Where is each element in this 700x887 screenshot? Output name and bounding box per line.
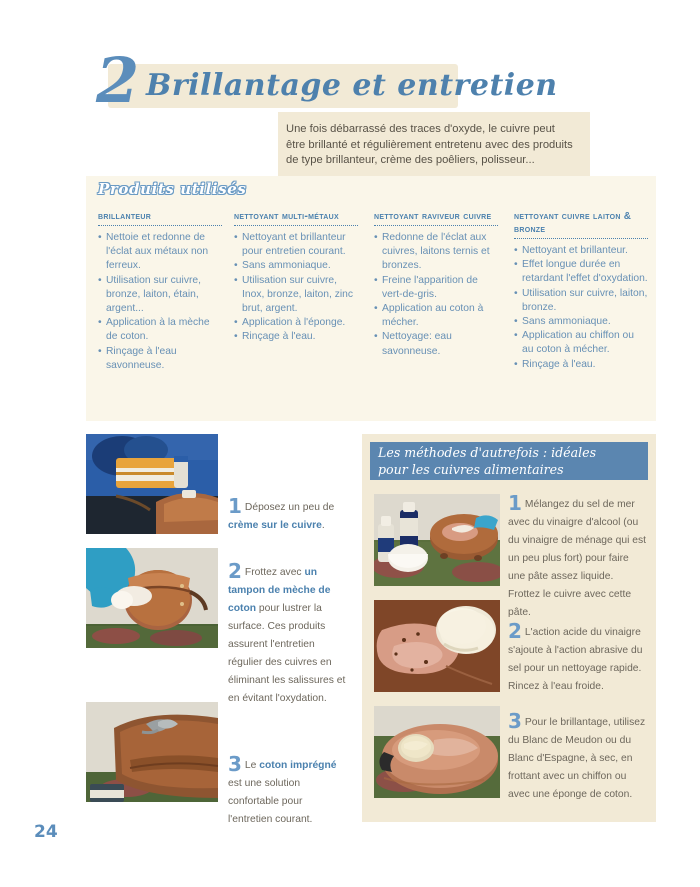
heading-line-2: pour les cuivres alimentaires	[378, 461, 648, 478]
intro-panel: Une fois débarrassé des traces d'oxyde, …	[278, 112, 590, 181]
step-number: 2	[508, 622, 522, 640]
products-heading: Produits utilisés	[98, 180, 246, 198]
page-number: 24	[34, 822, 58, 842]
product-feature-list: Redonne de l'éclat aux cuivres, laitons …	[374, 231, 498, 359]
list-item: Rinçage à l'eau.	[234, 330, 358, 344]
section-number: 2	[96, 50, 137, 112]
list-item: Application à l'éponge.	[234, 316, 358, 330]
step-number: 2	[228, 562, 242, 580]
list-item: Utilisation sur cuivre, bronze, laiton, …	[98, 274, 222, 317]
product-column-nettoyant-raviveur-cuivre: Nettoyant raviveur cuivre Redonne de l'é…	[374, 210, 498, 359]
step-photo-cotton-scrubbing-paste	[374, 600, 500, 692]
list-item: Utilisation sur cuivre, laiton, bronze.	[514, 287, 648, 315]
list-item: Application à la mèche de coton.	[98, 316, 222, 344]
products-panel: Produits utilisés Brillanteur Nettoie et…	[86, 176, 656, 421]
step-text: Pour le brillantage, utilisez du Blanc d…	[508, 717, 645, 800]
product-column-nettoyant-multi-metaux: Nettoyant multi-métaux Nettoyant et bril…	[234, 210, 358, 345]
list-item: Application au coton à mécher.	[374, 302, 498, 330]
step-text: Frottez avec un tampon de mèche de coton…	[228, 567, 345, 704]
product-title: Brillanteur	[98, 210, 222, 226]
list-item: Sans ammoniaque.	[234, 259, 358, 273]
heading-line-1: Les méthodes d'autrefois : idéales	[378, 444, 648, 461]
product-column-nettoyant-cuivre-laiton-bronze: Nettoyant cuivre laiton & bronze Nettoya…	[514, 210, 648, 372]
left-step-1: 1 Déposez un peu de crème sur le cuivre.	[228, 497, 346, 533]
step-photo-gloved-hands-applying-cream	[86, 434, 218, 534]
list-item: Rinçage à l'eau savonneuse.	[98, 345, 222, 373]
step-text: Mélangez du sel de mer avec du vinaigre …	[508, 499, 646, 618]
left-step-2: 2 Frottez avec un tampon de mèche de cot…	[228, 562, 348, 706]
left-step-3: 3 Le coton imprégné est une solution con…	[228, 755, 348, 827]
step-photo-bottles-bowl-and-copper-pan	[374, 494, 500, 586]
step-photo-polishing-with-whiting	[374, 706, 500, 798]
list-item: Sans ammoniaque.	[514, 315, 648, 329]
step-text: Le coton imprégné est une solution confo…	[228, 760, 336, 825]
step-photo-rubbing-cotton-wad	[86, 548, 218, 648]
list-item: Nettoyant et brillanteur pour entretien …	[234, 231, 358, 259]
list-item: Utilisation sur cuivre, Inox, bronze, la…	[234, 274, 358, 317]
right-step-3: 3 Pour le brillantage, utilisez du Blanc…	[508, 712, 648, 802]
product-feature-list: Nettoyant et brillanteur. Effet longue d…	[514, 244, 648, 372]
list-item: Application au chiffon ou au coton à méc…	[514, 329, 648, 357]
step-number: 1	[508, 494, 522, 512]
list-item: Nettoyant et brillanteur.	[514, 244, 648, 258]
product-title: Nettoyant raviveur cuivre	[374, 210, 498, 226]
list-item: Rinçage à l'eau.	[514, 358, 648, 372]
list-item: Nettoyage: eau savonneuse.	[374, 330, 498, 358]
product-feature-list: Nettoyant et brillanteur pour entretien …	[234, 231, 358, 345]
step-text: L'action acide du vinaigre s'ajoute à l'…	[508, 627, 642, 692]
product-title: Nettoyant multi-métaux	[234, 210, 358, 226]
list-item: Freine l'apparition de vert-de-gris.	[374, 274, 498, 302]
list-item: Effet longue durée en retardant l'effet …	[514, 258, 648, 286]
step-number: 1	[228, 497, 242, 515]
product-column-brillanteur: Brillanteur Nettoie et redonne de l'écla…	[98, 210, 222, 373]
right-step-1: 1 Mélangez du sel de mer avec du vinaigr…	[508, 494, 648, 620]
list-item: Nettoie et redonne de l'éclat aux métaux…	[98, 231, 222, 274]
step-number: 3	[508, 712, 522, 730]
step-photo-impregnated-cotton-on-copper	[86, 702, 218, 802]
product-feature-list: Nettoie et redonne de l'éclat aux métaux…	[98, 231, 222, 373]
intro-text: Une fois débarrassé des traces d'oxyde, …	[286, 122, 576, 169]
step-number: 3	[228, 755, 242, 773]
product-title: Nettoyant cuivre laiton & bronze	[514, 210, 648, 239]
step-text: Déposez un peu de crème sur le cuivre.	[228, 502, 334, 531]
page-title: Brillantage et entretien	[146, 68, 558, 103]
list-item: Redonne de l'éclat aux cuivres, laitons …	[374, 231, 498, 274]
right-step-2: 2 L'action acide du vinaigre s'ajoute à …	[508, 622, 648, 694]
traditional-methods-heading: Les méthodes d'autrefois : idéales pour …	[378, 444, 648, 478]
